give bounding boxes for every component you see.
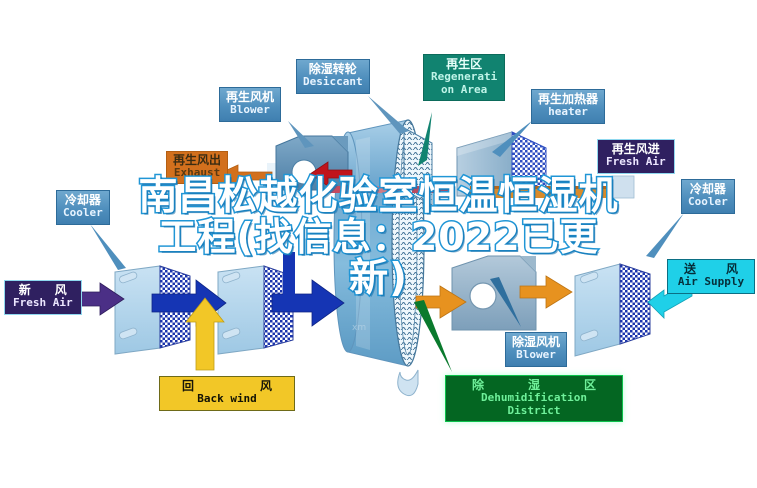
label-cooler-left-en: Cooler — [63, 207, 103, 219]
dehumidifier-schematic: xm — [0, 0, 757, 488]
label-dehumidification-district-en-2: District — [456, 405, 612, 417]
label-exhaust-en: Exhaust — [173, 167, 221, 179]
label-dehumidification-district: 除 湿 区 Dehumidification District — [445, 375, 623, 422]
label-regeneration-heater-cn: 再生加热器 — [538, 93, 598, 106]
label-dehumidification-blower-cn: 除湿风机 — [512, 336, 560, 349]
process-blue-stem — [283, 252, 295, 298]
label-regeneration-fresh-air-in: 再生风进 Fresh Air — [597, 139, 675, 174]
label-regeneration-blower-cn: 再生风机 — [226, 91, 274, 104]
label-cooler-left-cn: 冷却器 — [63, 194, 103, 207]
diagram-canvas: xm — [0, 0, 757, 488]
label-dehumidification-blower-en: Blower — [512, 349, 560, 361]
label-regeneration-heater-en: heater — [538, 106, 598, 118]
label-desiccant-wheel-en: Desiccant — [303, 76, 363, 88]
label-cooler-right-en: Cooler — [688, 196, 728, 208]
label-back-wind: 回 风 Back wind — [159, 376, 295, 411]
label-air-supply-cn: 送 风 — [675, 263, 747, 276]
heater-hot-duct — [470, 186, 615, 198]
label-air-supply-en: Air Supply — [675, 276, 747, 288]
label-regeneration-fresh-air-in-cn: 再生风进 — [606, 143, 666, 156]
label-exhaust: 再生风出 Exhaust — [166, 151, 228, 184]
condensate-drain — [398, 370, 418, 396]
label-fresh-air-in-cn: 新 风 — [13, 284, 73, 297]
label-back-wind-en: Back wind — [168, 393, 286, 405]
label-back-wind-cn: 回 风 — [168, 380, 286, 393]
duct-trim-bars — [330, 186, 454, 193]
label-cooler-left: 冷却器 Cooler — [56, 190, 110, 225]
label-regeneration-blower-en: Blower — [226, 104, 274, 116]
label-regeneration-area-en-1: Regenerati — [431, 71, 497, 83]
label-dehumidification-blower: 除湿风机 Blower — [505, 332, 567, 367]
label-regeneration-area: 再生区 Regenerati on Area — [423, 54, 505, 101]
label-regeneration-heater: 再生加热器 heater — [531, 89, 605, 124]
cooler-right-unit — [622, 205, 676, 250]
label-dehumidification-district-cn: 除 湿 区 — [456, 379, 612, 392]
label-regeneration-fresh-air-in-en: Fresh Air — [606, 156, 666, 168]
label-dehumidification-district-en-1: Dehumidification — [456, 392, 612, 404]
label-cooler-right: 冷却器 Cooler — [681, 179, 735, 214]
label-exhaust-cn: 再生风出 — [173, 154, 221, 167]
svg-text:xm: xm — [352, 323, 366, 333]
label-regeneration-area-en-2: on Area — [431, 84, 497, 96]
label-desiccant-wheel: 除湿转轮 Desiccant — [296, 59, 370, 94]
label-regeneration-blower: 再生风机 Blower — [219, 87, 281, 122]
regeneration-inlet-duct — [612, 176, 634, 198]
supply-filter-unit — [575, 264, 650, 356]
label-fresh-air-in-en: Fresh Air — [13, 297, 73, 309]
label-air-supply: 送 风 Air Supply — [667, 259, 755, 294]
label-fresh-air-in: 新 风 Fresh Air — [4, 280, 82, 315]
label-cooler-right-cn: 冷却器 — [688, 183, 728, 196]
label-desiccant-wheel-cn: 除湿转轮 — [303, 63, 363, 76]
label-regeneration-area-cn: 再生区 — [431, 58, 497, 71]
